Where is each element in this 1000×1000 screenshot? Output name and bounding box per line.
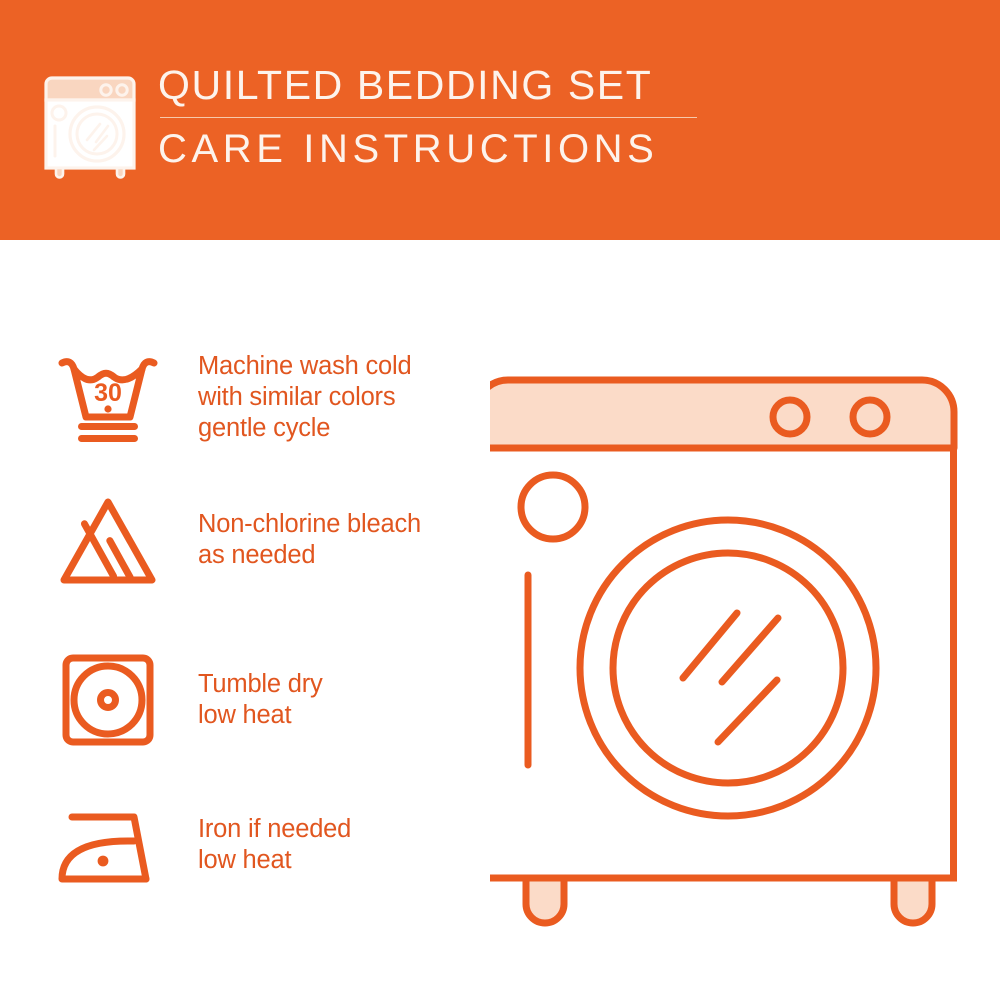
washing-machine-illustration (490, 330, 980, 940)
non-chlorine-bleach-triangle-icon (46, 488, 170, 592)
care-label-tumble-dry: Tumble dry low heat (198, 669, 323, 731)
header-band: QUILTED BEDDING SET CARE INSTRUCTIONS (0, 0, 1000, 240)
care-label-bleach: Non-chlorine bleach as needed (198, 509, 421, 571)
care-row-bleach: Non-chlorine bleach as needed (46, 488, 486, 592)
wash-temperature-value: 30 (94, 379, 122, 407)
foot-left (526, 878, 564, 923)
header-text-block: QUILTED BEDDING SET CARE INSTRUCTIONS (158, 62, 697, 172)
care-label-iron: Iron if needed low heat (198, 814, 351, 876)
header-content: QUILTED BEDDING SET CARE INSTRUCTIONS (44, 62, 697, 180)
knob-left (773, 400, 807, 434)
care-instruction-list: 30 Machine wash cold with similar colors… (0, 240, 500, 1000)
knob-right (853, 400, 887, 434)
machine-wash-tub-icon: 30 (46, 345, 170, 449)
foot-right (894, 878, 932, 923)
care-instructions-infographic: QUILTED BEDDING SET CARE INSTRUCTIONS 30 (0, 0, 1000, 1000)
care-row-machine-wash: 30 Machine wash cold with similar colors… (46, 345, 486, 449)
care-row-tumble-dry: Tumble dry low heat (46, 648, 486, 752)
iron-low-heat-icon (46, 793, 170, 897)
tumble-dry-low-icon (46, 648, 170, 752)
care-row-iron: Iron if needed low heat (46, 793, 486, 897)
care-label-machine-wash: Machine wash cold with similar colors ge… (198, 351, 411, 444)
page-title: QUILTED BEDDING SET (158, 62, 697, 108)
page-subtitle: CARE INSTRUCTIONS (158, 126, 697, 172)
title-divider (160, 117, 697, 118)
washing-machine-icon (44, 68, 136, 180)
